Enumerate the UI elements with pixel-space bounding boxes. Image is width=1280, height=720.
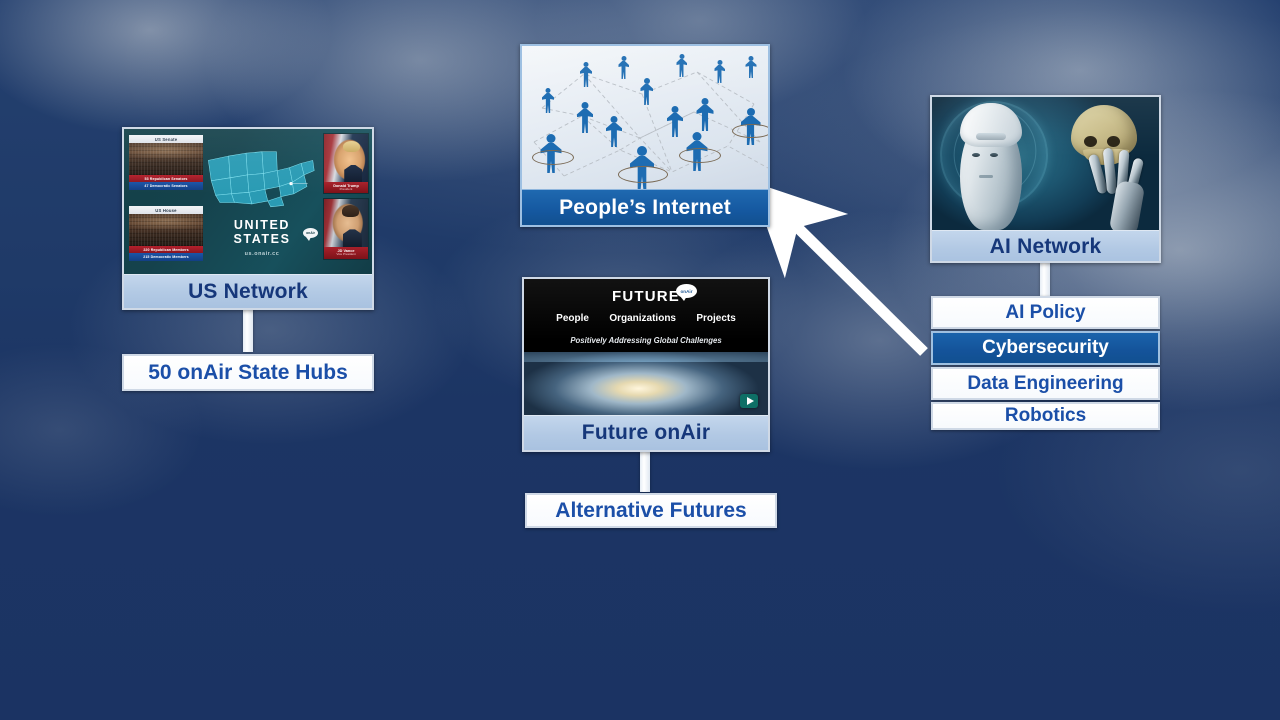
us-senate-republican-chip: 53 Republican Senators bbox=[129, 175, 203, 182]
us-senate-photo bbox=[129, 143, 203, 175]
us-house-heading: US House bbox=[129, 206, 203, 214]
connection-ring bbox=[532, 150, 574, 165]
node-future-onair[interactable]: FUTURE onAir People Organizations Projec… bbox=[522, 277, 770, 452]
person-figure bbox=[616, 56, 631, 80]
onair-logo-icon: onAir bbox=[303, 228, 318, 238]
person-figure bbox=[578, 62, 594, 88]
us-map-url: us.onair.cc bbox=[204, 251, 320, 257]
portrait-card: Donald Trump President bbox=[323, 133, 369, 194]
person-figure bbox=[574, 102, 596, 136]
android-eye bbox=[990, 153, 998, 157]
node-peoples-internet[interactable]: People’s Internet bbox=[520, 44, 770, 227]
person-figure bbox=[674, 54, 689, 78]
us-map-region: UNITED STATES us.onair.cc onAir bbox=[204, 135, 320, 270]
node-state-hubs[interactable]: 50 onAir State Hubs bbox=[122, 354, 374, 391]
node-label-alternative-futures: Alternative Futures bbox=[555, 499, 746, 523]
menu-item-label: Data Engineering bbox=[967, 373, 1123, 395]
node-alternative-futures[interactable]: Alternative Futures bbox=[525, 493, 777, 528]
future-tagline: Positively Addressing Global Challenges bbox=[524, 336, 768, 345]
node-us-network[interactable]: US Senate 53 Republican Senators 47 Demo… bbox=[122, 127, 374, 310]
connector-ai-network-to-ai-menu bbox=[1040, 262, 1050, 296]
us-house-photo bbox=[129, 214, 203, 246]
future-nav: People Organizations Projects bbox=[524, 313, 768, 324]
us-senate-panel: US Senate 53 Republican Senators 47 Demo… bbox=[129, 135, 203, 190]
us-network-thumbnail: US Senate 53 Republican Senators 47 Demo… bbox=[124, 129, 372, 274]
menu-item-robotics[interactable]: Robotics bbox=[931, 402, 1160, 430]
us-house-republican-chip: 220 Republican Members bbox=[129, 246, 203, 253]
portrait-card: JD Vance Vice President bbox=[323, 198, 369, 259]
earth-horizon-image bbox=[524, 352, 768, 415]
us-house-panel: US House 220 Republican Members 215 Demo… bbox=[129, 206, 203, 261]
node-label-ai-network[interactable]: AI Network bbox=[932, 230, 1159, 263]
portrait-caption: JD Vance Vice President bbox=[324, 247, 368, 258]
person-figure bbox=[638, 78, 655, 106]
node-ai-network[interactable]: AI Network bbox=[930, 95, 1161, 263]
future-nav-organizations[interactable]: Organizations bbox=[609, 313, 676, 324]
connection-ring bbox=[618, 166, 668, 183]
menu-item-label: AI Policy bbox=[1005, 302, 1085, 324]
us-senate-heading: US Senate bbox=[129, 135, 203, 143]
node-label-state-hubs: 50 onAir State Hubs bbox=[148, 361, 348, 385]
connector-future-onair-to-alternative-futures bbox=[640, 452, 650, 492]
future-title: FUTURE bbox=[524, 288, 768, 305]
portrait-photo bbox=[324, 134, 368, 182]
future-nav-people[interactable]: People bbox=[556, 313, 589, 324]
android-mouth bbox=[979, 175, 993, 178]
future-nav-projects[interactable]: Projects bbox=[696, 313, 735, 324]
portrait-caption: Donald Trump President bbox=[324, 182, 368, 193]
portrait-role: President bbox=[324, 188, 368, 191]
us-senate-democratic-chip: 47 Democratic Senators bbox=[129, 182, 203, 189]
play-icon[interactable] bbox=[740, 394, 758, 408]
portrait-photo bbox=[324, 199, 368, 247]
menu-item-ai-policy[interactable]: AI Policy bbox=[931, 296, 1160, 329]
person-figure bbox=[604, 116, 624, 148]
onair-logo-icon: onAir bbox=[676, 284, 697, 298]
connection-ring bbox=[732, 124, 768, 138]
android-eye bbox=[972, 153, 980, 157]
menu-item-label: Cybersecurity bbox=[982, 337, 1109, 359]
peoples-internet-thumbnail bbox=[522, 46, 768, 189]
us-map-icon bbox=[204, 137, 320, 215]
connector-us-network-to-state-hubs bbox=[243, 308, 253, 352]
ai-network-thumbnail bbox=[932, 97, 1159, 230]
person-figure bbox=[540, 88, 556, 114]
node-label-future-onair[interactable]: Future onAir bbox=[524, 415, 768, 450]
menu-item-label: Robotics bbox=[1005, 405, 1086, 427]
menu-item-data-engineering[interactable]: Data Engineering bbox=[931, 367, 1160, 400]
person-figure bbox=[712, 60, 727, 84]
portrait-role: Vice President bbox=[324, 253, 368, 256]
person-figure bbox=[744, 56, 758, 79]
node-label-us-network[interactable]: US Network bbox=[124, 274, 372, 308]
connection-ring bbox=[679, 148, 721, 163]
node-label-peoples-internet[interactable]: People’s Internet bbox=[522, 189, 768, 225]
menu-item-cybersecurity[interactable]: Cybersecurity bbox=[931, 331, 1160, 365]
robotic-hand-image bbox=[1091, 146, 1145, 230]
us-officials-list: Donald Trump President JD Vance Vice Pre… bbox=[323, 133, 369, 264]
future-onair-thumbnail: FUTURE onAir People Organizations Projec… bbox=[524, 279, 768, 415]
person-figure bbox=[665, 106, 685, 138]
network-map-canvas: US Senate 53 Republican Senators 47 Demo… bbox=[0, 0, 1280, 720]
us-house-democratic-chip: 215 Democratic Members bbox=[129, 253, 203, 260]
person-figure bbox=[694, 98, 716, 134]
